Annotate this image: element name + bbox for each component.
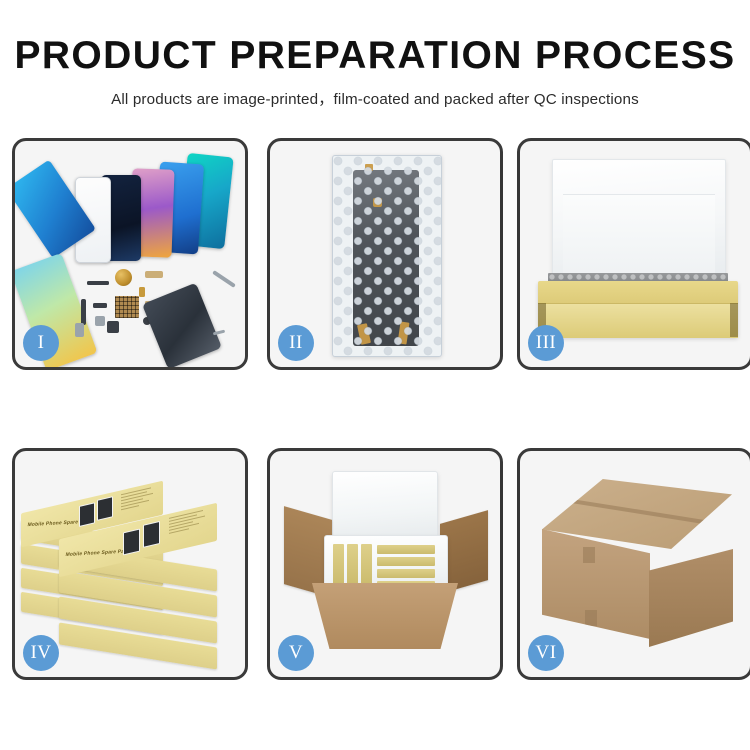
step-panel-6[interactable]: VI bbox=[517, 448, 750, 680]
page-subtitle: All products are image-printed，film-coat… bbox=[0, 87, 750, 109]
box-text-lines-front bbox=[169, 509, 209, 536]
step-panel-2[interactable]: II bbox=[267, 138, 503, 370]
logic-board-part bbox=[115, 296, 139, 318]
carton-right-face bbox=[649, 549, 733, 647]
infographic-page: PRODUCT PREPARATION PROCESS All products… bbox=[0, 0, 750, 750]
carton-seal-upper bbox=[583, 547, 595, 563]
box-art-phone-b2 bbox=[97, 496, 113, 521]
yellow-box-4 bbox=[377, 545, 435, 554]
step-badge-6: VI bbox=[528, 635, 564, 671]
step-badge-1: I bbox=[23, 325, 59, 361]
tray-corner-right bbox=[730, 303, 738, 337]
box-label-front: Mobile Phone Spare Parts bbox=[65, 548, 132, 558]
box-art-phone-f1 bbox=[123, 529, 140, 556]
yellow-box-3 bbox=[361, 544, 372, 586]
carton-tape-top bbox=[562, 497, 720, 526]
bubble-wrap-bag bbox=[332, 155, 442, 357]
kraft-tray bbox=[538, 281, 738, 337]
camera-part bbox=[95, 316, 105, 326]
yellow-box-1 bbox=[333, 544, 344, 586]
box-text-lines-back bbox=[121, 486, 155, 512]
sim-tray-part bbox=[75, 323, 84, 337]
taptic-part bbox=[107, 321, 119, 333]
box-art-phone-f2 bbox=[143, 521, 160, 548]
phone-chassis bbox=[142, 283, 222, 370]
antenna-part bbox=[81, 299, 86, 325]
speaker-part bbox=[115, 269, 132, 286]
yellow-box-2 bbox=[347, 544, 358, 586]
step-panel-3[interactable]: III bbox=[517, 138, 750, 370]
yellow-box-5 bbox=[377, 557, 435, 566]
step-badge-5: V bbox=[278, 635, 314, 671]
connector-part bbox=[145, 271, 163, 278]
bubble-texture bbox=[333, 156, 441, 356]
tweezers-tool bbox=[212, 270, 236, 288]
carton-body bbox=[312, 583, 458, 649]
step-badge-4: IV bbox=[23, 635, 59, 671]
carton-left-face bbox=[542, 529, 650, 639]
foam-lid bbox=[552, 159, 726, 283]
header: PRODUCT PREPARATION PROCESS All products… bbox=[0, 34, 750, 109]
flex-cable-part bbox=[87, 281, 109, 285]
page-title: PRODUCT PREPARATION PROCESS bbox=[0, 34, 750, 78]
screw-part bbox=[139, 287, 145, 297]
step-panel-5[interactable]: V bbox=[267, 448, 503, 680]
step-badge-3: III bbox=[528, 325, 564, 361]
process-grid: I II bbox=[12, 138, 738, 680]
yellow-box-6 bbox=[377, 569, 435, 578]
kraft-tray-front bbox=[538, 303, 738, 338]
step-panel-4[interactable]: Mobile Phone Spare Parts Mob bbox=[12, 448, 248, 680]
box-art-phone-b1 bbox=[79, 502, 95, 527]
foam-lid-inner bbox=[563, 194, 715, 282]
foam-lid-open bbox=[332, 471, 438, 541]
carton-seal-lower bbox=[585, 610, 597, 626]
step-panel-1[interactable]: I bbox=[12, 138, 248, 370]
bracket-part bbox=[93, 303, 107, 308]
step-badge-2: II bbox=[278, 325, 314, 361]
